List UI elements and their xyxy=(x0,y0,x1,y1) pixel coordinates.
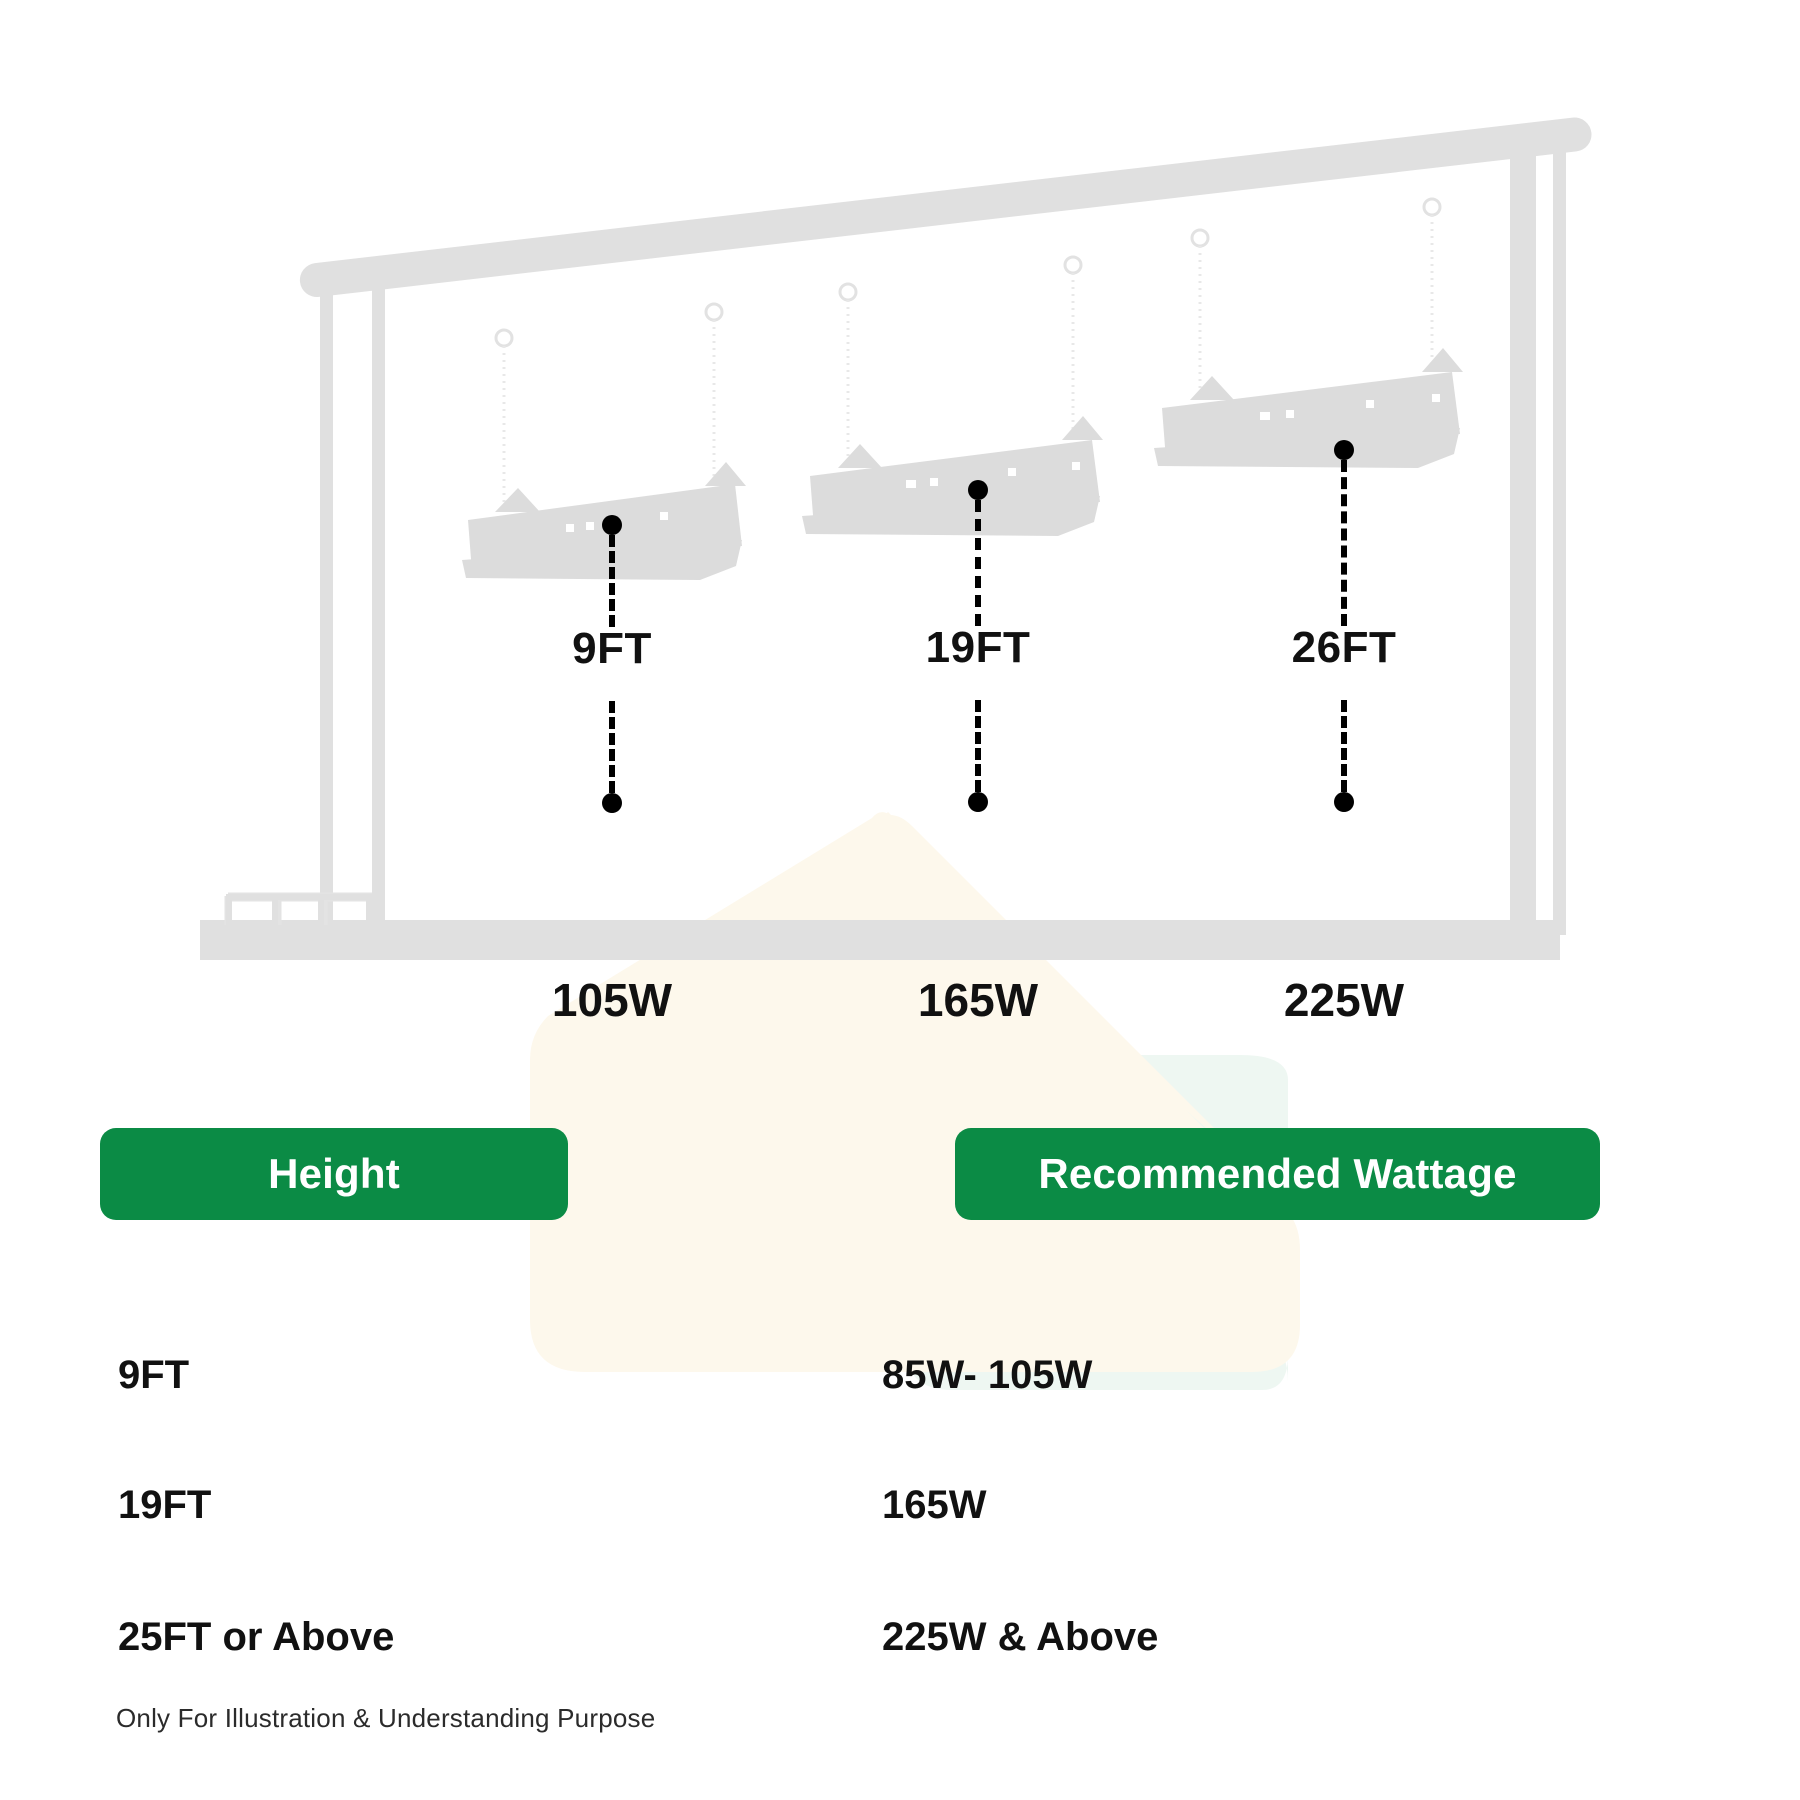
measurement-label-19ft: 19FT xyxy=(926,626,1031,670)
measurement-dot-bottom xyxy=(1334,792,1354,812)
right-support-column xyxy=(1510,145,1566,935)
measurement-label-9ft: 9FT xyxy=(572,627,652,671)
measurement-dash-upper xyxy=(1341,460,1347,626)
measurement-dot-top xyxy=(602,515,622,535)
measurement-dash-upper xyxy=(609,535,615,627)
table-cell-height-1: 19FT xyxy=(118,1485,211,1525)
table-cell-wattage-1: 165W xyxy=(882,1485,987,1525)
measurement-dash-lower xyxy=(1341,700,1347,792)
table-header-height: Height xyxy=(100,1128,568,1220)
measurement-dot-top xyxy=(968,480,988,500)
wattage-label-165w: 165W xyxy=(918,977,1038,1023)
warehouse-illustration: .struct { fill:#e0e0e0; } .fixt { fill:#… xyxy=(0,0,1800,1000)
height-wattage-table: Height Recommended Wattage 9FT 85W- 105W… xyxy=(0,1110,1800,1670)
measurement-dash-lower xyxy=(975,700,981,792)
wattage-label-225w: 225W xyxy=(1284,977,1404,1023)
floor-slab xyxy=(200,920,1560,960)
footer-disclaimer: Only For Illustration & Understanding Pu… xyxy=(116,1703,655,1734)
sloped-ceiling-beam xyxy=(298,116,1593,299)
measurement-dash-upper xyxy=(975,500,981,626)
wattage-label-105w: 105W xyxy=(552,977,672,1023)
table-cell-wattage-2: 225W & Above xyxy=(882,1617,1158,1657)
measurement-dot-bottom xyxy=(602,793,622,813)
measurement-dot-bottom xyxy=(968,792,988,812)
infographic-canvas: .struct { fill:#e0e0e0; } .fixt { fill:#… xyxy=(0,0,1800,1800)
left-support-posts xyxy=(320,280,385,935)
measurement-dash-lower xyxy=(609,701,615,793)
table-cell-height-0: 9FT xyxy=(118,1355,189,1395)
measurement-label-26ft: 26FT xyxy=(1292,626,1397,670)
measurement-dot-top xyxy=(1334,440,1354,460)
table-cell-wattage-0: 85W- 105W xyxy=(882,1355,1092,1395)
table-header-recommended-wattage: Recommended Wattage xyxy=(955,1128,1600,1220)
table-cell-height-2: 25FT or Above xyxy=(118,1617,394,1657)
